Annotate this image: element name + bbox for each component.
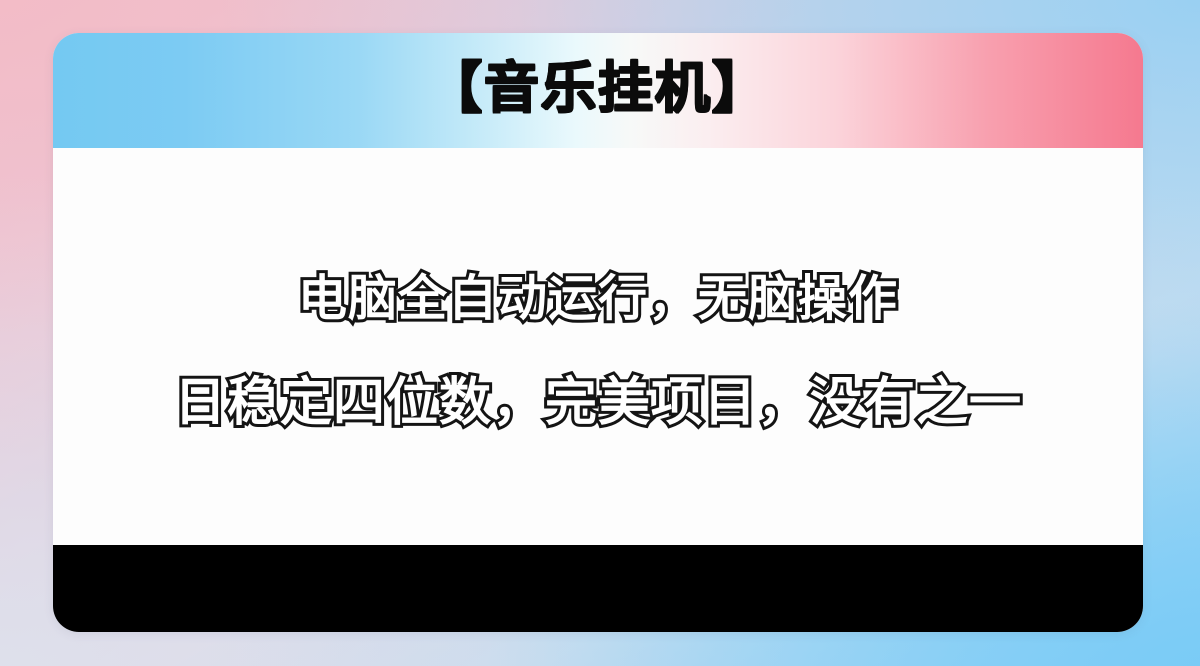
card-body: 电脑全自动运行，无脑操作 日稳定四位数，完美项目，没有之一	[53, 148, 1143, 545]
card-footer-bar	[53, 545, 1143, 632]
promo-slide: 【音乐挂机】 电脑全自动运行，无脑操作 日稳定四位数，完美项目，没有之一	[0, 0, 1200, 666]
content-card: 【音乐挂机】 电脑全自动运行，无脑操作 日稳定四位数，完美项目，没有之一	[53, 33, 1143, 632]
card-header-band: 【音乐挂机】	[53, 33, 1143, 148]
page-title: 【音乐挂机】	[427, 61, 769, 120]
body-line-2: 日稳定四位数，完美项目，没有之一	[174, 376, 1022, 431]
body-line-1: 电脑全自动运行，无脑操作	[298, 274, 898, 325]
